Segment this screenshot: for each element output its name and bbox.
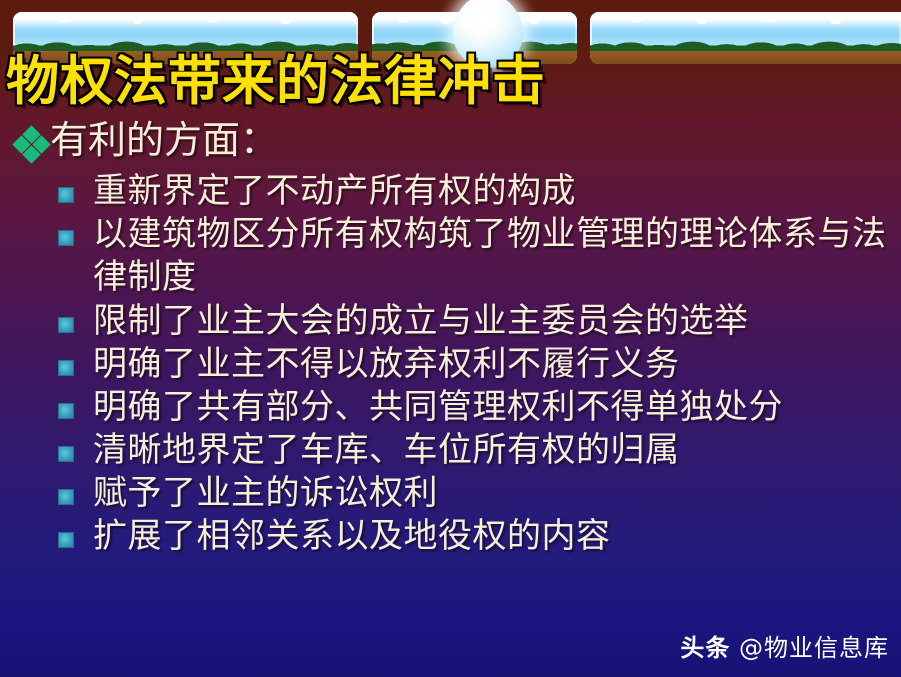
square-bullet-icon: [58, 446, 74, 462]
list-item-label: 重新界定了不动产所有权的构成: [93, 170, 576, 213]
list-item-label: 限制了业主大会的成立与业主委员会的选举: [93, 300, 749, 343]
list-item-label: 明确了共有部分、共同管理权利不得单独处分: [93, 386, 783, 429]
square-bullet-icon: [58, 230, 74, 246]
snow-fringe: [590, 12, 901, 29]
watermark-handle: @物业信息库: [739, 634, 889, 662]
square-bullet-icon: [58, 489, 74, 505]
list-item-label: 扩展了相邻关系以及地役权的内容: [93, 515, 611, 558]
list-item: 重新界定了不动产所有权的构成: [0, 170, 901, 213]
list-item: 赋予了业主的诉讼权利: [0, 472, 901, 515]
snow-fringe: [13, 12, 358, 29]
landscape-panel-right: [590, 12, 901, 64]
list-item-label: 明确了业主不得以放弃权利不履行义务: [93, 343, 680, 386]
list-item-label: 清晰地界定了车库、车位所有权的归属: [93, 429, 680, 472]
hills-shape: [13, 37, 358, 52]
list-item-label: 以建筑物区分所有权构筑了物业管理的理论体系与法律制度: [93, 213, 901, 299]
square-bullet-icon: [58, 403, 74, 419]
square-bullet-icon: [58, 532, 74, 548]
square-bullet-icon: [58, 317, 74, 333]
list-item: 限制了业主大会的成立与业主委员会的选举: [0, 300, 901, 343]
list-item: 扩展了相邻关系以及地役权的内容: [0, 515, 901, 558]
list-item: 以建筑物区分所有权构筑了物业管理的理论体系与法律制度: [0, 213, 901, 299]
presentation-slide: 物权法带来的法律冲击 有利的方面： 重新界定了不动产所有权的构成 以建筑物区分所…: [0, 0, 901, 677]
list-item: 清晰地界定了车库、车位所有权的归属: [0, 429, 901, 472]
slide-title: 物权法带来的法律冲击: [6, 54, 546, 110]
ground-shape: [590, 51, 901, 64]
square-bullet-icon: [58, 187, 74, 203]
watermark: 头条 @物业信息库: [680, 628, 889, 663]
bullet-level1: 有利的方面：: [0, 120, 901, 166]
square-bullet-icon: [58, 360, 74, 376]
bullet-level1-label: 有利的方面：: [50, 120, 278, 164]
list-item: 明确了业主不得以放弃权利不履行义务: [0, 343, 901, 386]
list-item: 明确了共有部分、共同管理权利不得单独处分: [0, 386, 901, 429]
list-item-label: 赋予了业主的诉讼权利: [93, 472, 438, 515]
hills-shape: [590, 37, 901, 52]
slide-body: 有利的方面： 重新界定了不动产所有权的构成 以建筑物区分所有权构筑了物业管理的理…: [0, 120, 901, 559]
diamond-cluster-icon: [14, 126, 50, 166]
watermark-brand: 头条: [680, 634, 730, 662]
